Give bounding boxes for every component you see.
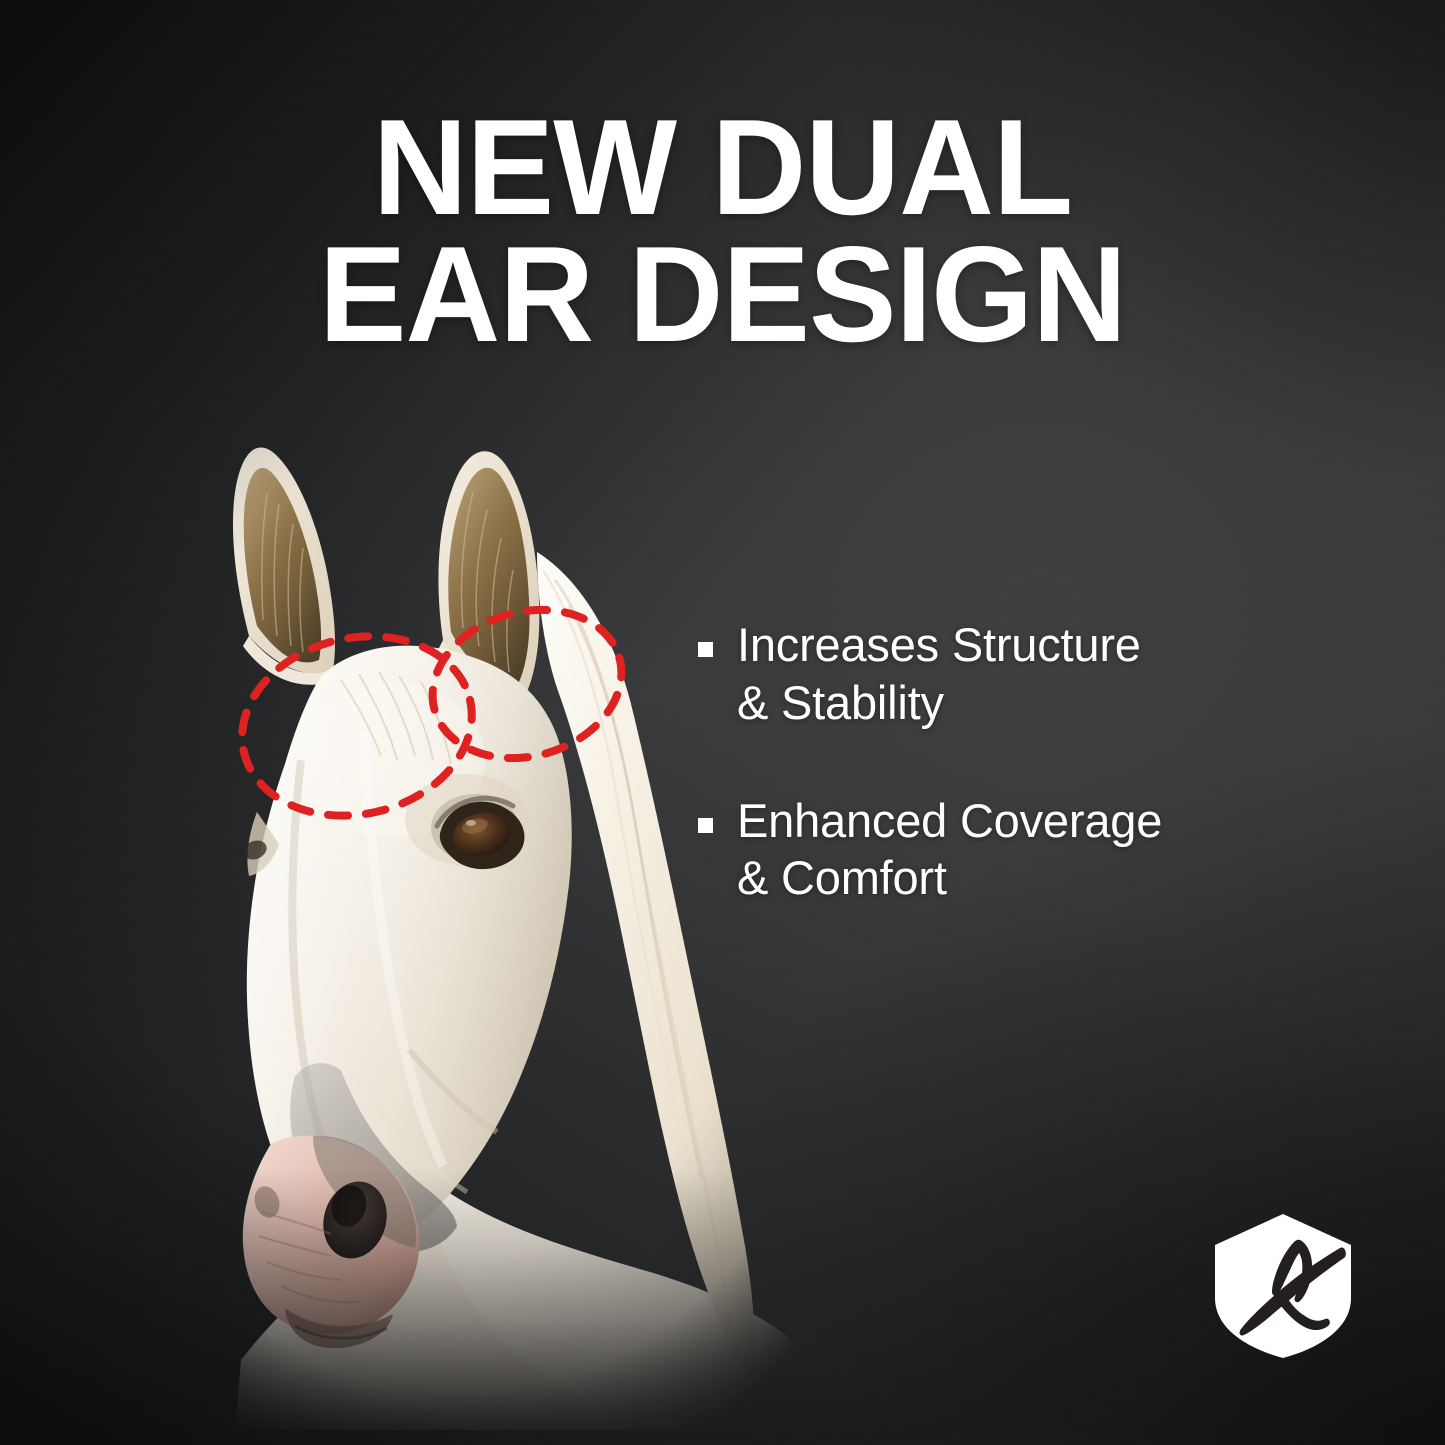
headline-line-2: EAR DESIGN [25, 231, 1419, 358]
bullet-line-2: & Stability [737, 676, 944, 729]
bullet-line-1: Increases Structure [737, 618, 1141, 671]
eye-glint [466, 820, 476, 826]
bullet-text: Enhanced Coverage & Comfort [737, 792, 1162, 908]
brand-logo [1208, 1212, 1358, 1360]
list-item: Increases Structure & Stability [698, 616, 1350, 732]
bullet-square-icon [698, 642, 713, 657]
feature-bullet-list: Increases Structure & Stability Enhanced… [698, 616, 1350, 907]
bullet-square-icon [698, 818, 713, 833]
list-item: Enhanced Coverage & Comfort [698, 792, 1350, 908]
bullet-line-1: Enhanced Coverage [737, 794, 1162, 847]
bullet-line-2: & Comfort [737, 851, 947, 904]
promo-graphic: NEW DUAL EAR DESIGN [0, 0, 1445, 1445]
shield-icon [1215, 1214, 1351, 1358]
horse-photo [145, 430, 845, 1390]
horse-left-ear [233, 448, 335, 685]
headline: NEW DUAL EAR DESIGN [25, 104, 1419, 358]
bullet-text: Increases Structure & Stability [737, 616, 1141, 732]
headline-line-1: NEW DUAL [25, 104, 1419, 231]
